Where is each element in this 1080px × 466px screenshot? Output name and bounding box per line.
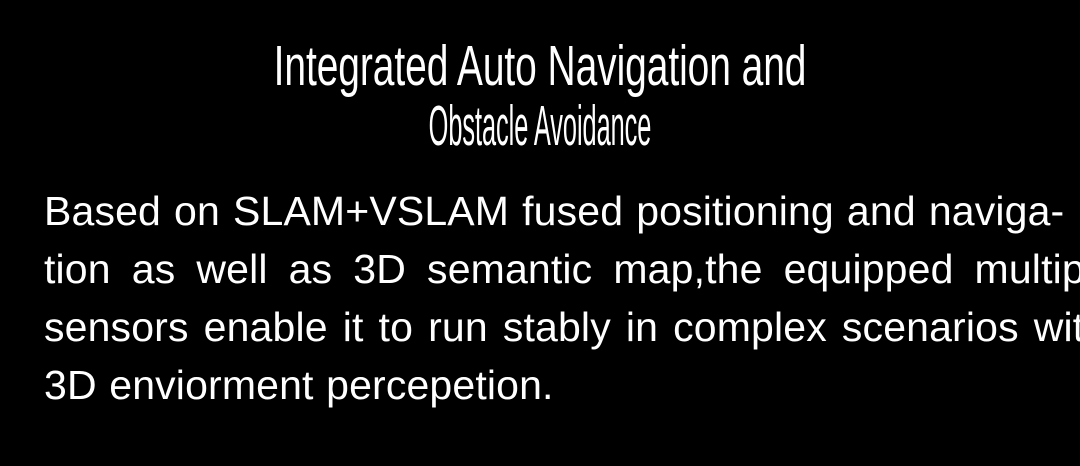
slide-canvas: Integrated Auto Navigation and Obstacle … [0,0,1080,466]
title-line-2: Obstacle Avoidance [300,96,780,156]
body-line-1: Based on SLAM+VSLAM fused positioning an… [44,182,1036,240]
page-title: Integrated Auto Navigation and Obstacle … [0,36,1080,156]
body-line-4: 3D enviorment percepetion. [44,356,1036,414]
body-line-3: sensors enable it to run stably in compl… [44,298,1036,356]
body-line-2: tion as well as 3D semantic map,the equi… [44,240,1036,298]
body-paragraph: Based on SLAM+VSLAM fused positioning an… [44,182,1036,414]
title-line-1: Integrated Auto Navigation and [171,36,909,96]
